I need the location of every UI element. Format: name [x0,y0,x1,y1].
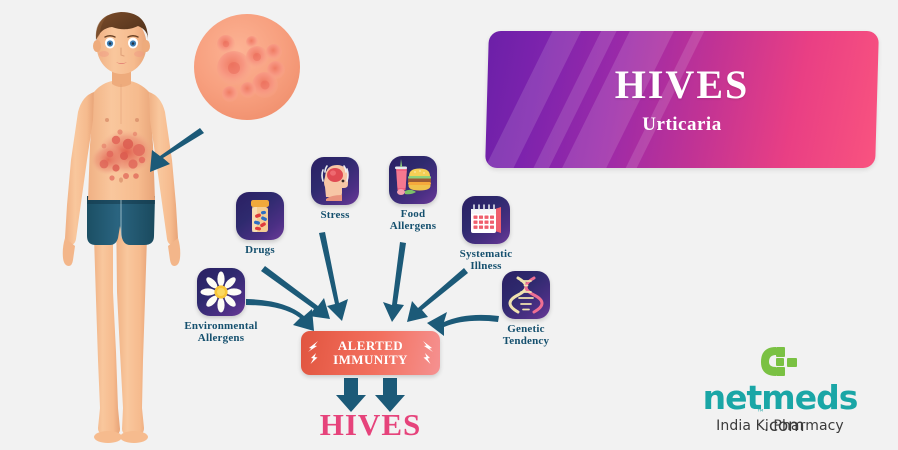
alerted-line-2: IMMUNITY [333,352,408,367]
label-line-1: Environmental [184,320,257,332]
label-line-1: Systematic [460,248,513,260]
alerted-immunity-box: ALERTED IMMUNITY [301,331,440,375]
page-title: HIVES [615,65,750,105]
magnified-skin-hives-icon [192,12,302,122]
infographic-canvas: HIVES Urticaria [0,0,898,450]
label-line-1: Genetic [507,323,544,335]
trigger-environmental-allergens[interactable]: Environmental Allergens [173,268,269,345]
netmeds-logo: netmeds™.com India Ki Pharmacy [690,345,870,440]
lightning-bolt-arrow-icon-left [306,340,322,366]
alerted-line-1: ALERTED [338,338,403,353]
label-line-1: Food [401,208,426,220]
page-subtitle: Urticaria [642,115,721,134]
trigger-genetic-tendency[interactable]: Genetic Tendency [478,271,574,348]
label-line-2: Allergens [198,332,244,344]
burger-drink-icon [389,156,437,204]
dna-helix-icon [502,271,550,319]
boy-with-hives-illustration [38,0,188,450]
brand-name: netmeds [703,381,858,415]
domain-suffix: .com [764,416,805,436]
trigger-systematic-illness[interactable]: Systematic Illness [438,196,534,273]
trigger-label: Drugs [212,244,308,256]
trigger-label: Genetic Tendency [478,323,574,348]
title-banner: HIVES Urticaria [485,31,879,168]
daisy-flower-icon [197,268,245,316]
alerted-immunity-text: ALERTED IMMUNITY [333,339,408,367]
netmeds-wordmark: netmeds™.com [690,381,870,415]
lightning-bolt-arrow-icon-right [419,340,435,366]
trigger-label: Systematic Illness [438,248,534,273]
pill-bottle-icon [236,192,284,240]
label-line-2: Tendency [503,335,549,347]
calendar-icon [462,196,510,244]
trigger-label: Environmental Allergens [173,320,269,345]
outcome-label: HIVES [301,409,440,440]
label-line-2: Allergens [390,220,436,232]
head-pain-icon [311,157,359,205]
